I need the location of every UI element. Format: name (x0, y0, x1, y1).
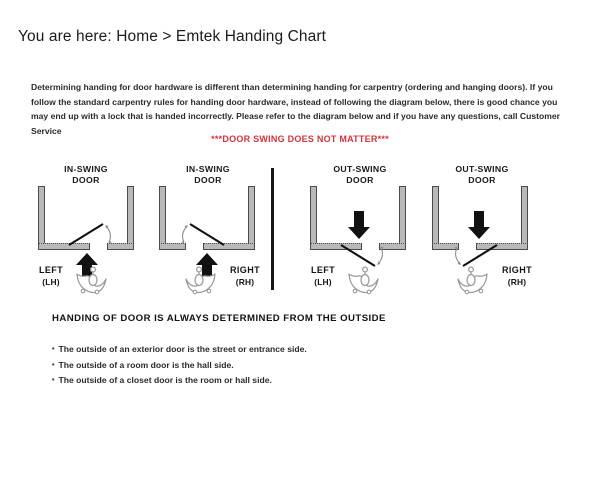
panel-in-swing-right: IN-SWING DOOR RIGHT (RH) (144, 160, 272, 300)
down-arrow-icon (467, 210, 491, 240)
panel-out-swing-left: OUT-SWING DOOR LEFT (LH) (296, 160, 424, 300)
hand-label-text: RIGHT (502, 265, 532, 275)
hand-label-left: LEFT (LH) (28, 264, 74, 288)
emtek-handing-chart: Determining handing for door hardware is… (0, 66, 600, 406)
hand-label-text: LEFT (39, 265, 63, 275)
hand-label-text: RIGHT (230, 265, 260, 275)
hand-label-left: LEFT (LH) (300, 264, 346, 288)
list-item: The outside of a closet door is the room… (52, 373, 482, 389)
handing-diagram: IN-SWING DOOR LEFT (LH) (0, 160, 600, 300)
outside-notes-list: The outside of an exterior door is the s… (52, 342, 482, 389)
hand-abbr-text: (RH) (236, 277, 254, 287)
left-hand-icon (74, 266, 108, 296)
list-item: The outside of an exterior door is the s… (52, 342, 482, 358)
right-hand-icon (456, 266, 490, 296)
left-hand-icon (346, 266, 380, 296)
hand-label-right: RIGHT (RH) (492, 264, 542, 288)
breadcrumb: You are here: Home > Emtek Handing Chart (18, 28, 326, 46)
right-hand-icon (184, 266, 218, 296)
door-swing-notice: ***DOOR SWING DOES NOT MATTER*** (0, 134, 600, 144)
panel-out-swing-right: OUT-SWING DOOR RIGHT (RH) (418, 160, 546, 300)
list-item: The outside of a room door is the hall s… (52, 358, 482, 374)
outside-heading: HANDING OF DOOR IS ALWAYS DETERMINED FRO… (52, 313, 386, 324)
down-arrow-icon (347, 210, 371, 240)
panel-in-swing-left: IN-SWING DOOR LEFT (LH) (22, 160, 150, 300)
hand-label-right: RIGHT (RH) (220, 264, 270, 288)
hand-label-text: LEFT (311, 265, 335, 275)
hand-abbr-text: (LH) (42, 277, 60, 287)
hand-abbr-text: (RH) (508, 277, 526, 287)
hand-abbr-text: (LH) (314, 277, 332, 287)
intro-paragraph: Determining handing for door hardware is… (31, 80, 571, 138)
